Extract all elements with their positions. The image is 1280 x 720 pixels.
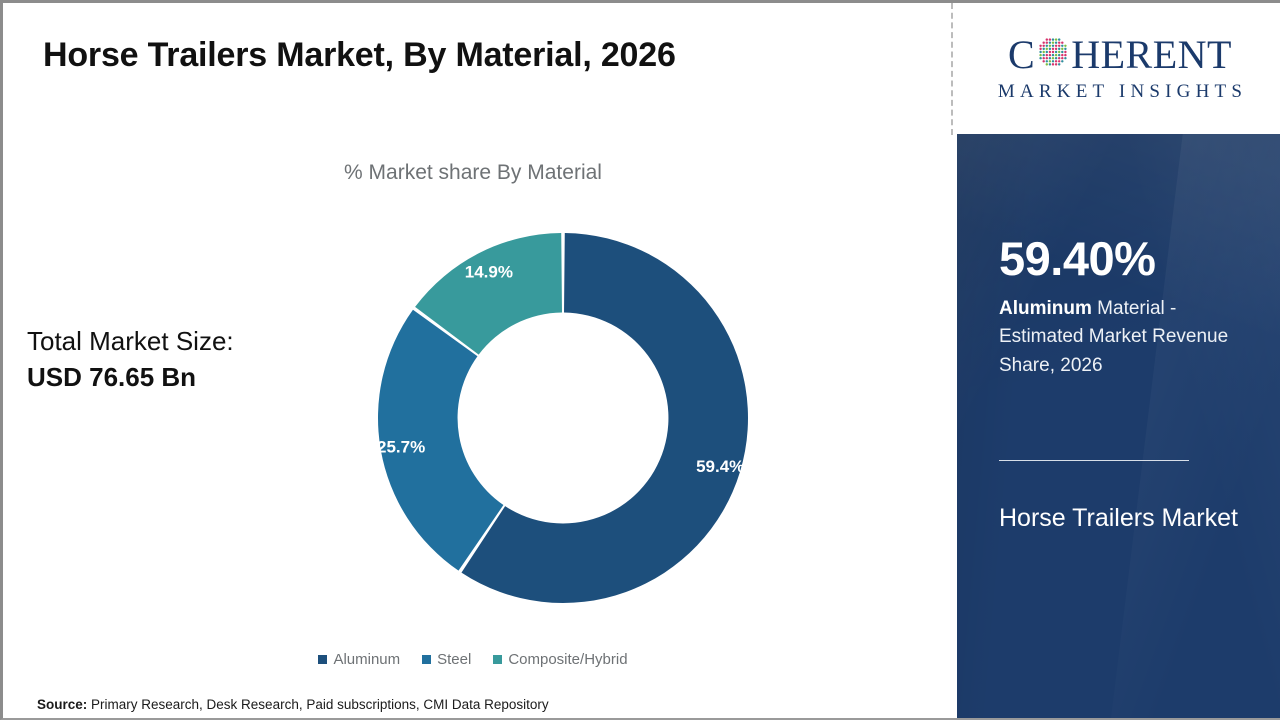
- sidebar-market-name: Horse Trailers Market: [999, 498, 1249, 538]
- donut-slice-label: 14.9%: [465, 262, 513, 281]
- brand-logo: C HERENT MARKET INSIGHTS: [957, 3, 1280, 134]
- logo-wordmark: C HERENT: [1008, 35, 1232, 76]
- chart-title: % Market share By Material: [3, 161, 943, 185]
- logo-letter-c: C: [1008, 35, 1035, 75]
- globe-dots-icon: [1036, 35, 1070, 76]
- panel-background-texture: [957, 134, 1280, 720]
- chart-legend: AluminumSteelComposite/Hybrid: [3, 651, 943, 668]
- legend-swatch-icon: [422, 655, 431, 664]
- key-stat-caption: Aluminum Material - Estimated Market Rev…: [999, 295, 1249, 381]
- legend-item[interactable]: Composite/Hybrid: [493, 651, 627, 668]
- sidebar-panel: C HERENT MARKET INSIGHTS 59.40% Aluminum…: [957, 3, 1280, 720]
- donut-slice-group: [378, 233, 748, 603]
- donut-slice-label: 25.7%: [377, 437, 425, 456]
- legend-label: Composite/Hybrid: [508, 651, 627, 668]
- key-stat-block: 59.40% Aluminum Material - Estimated Mar…: [999, 235, 1249, 380]
- source-text: Primary Research, Desk Research, Paid su…: [87, 697, 548, 712]
- donut-chart-svg: 59.4%25.7%14.9%: [373, 228, 753, 608]
- total-market-size-block: Total Market Size: USD 76.65 Bn: [27, 325, 234, 394]
- total-market-size-value: USD 76.65 Bn: [27, 361, 234, 394]
- legend-item[interactable]: Aluminum: [318, 651, 400, 668]
- logo-letters-herent: HERENT: [1071, 35, 1232, 75]
- panel-divider: [951, 3, 953, 135]
- legend-swatch-icon: [493, 655, 502, 664]
- total-market-size-label: Total Market Size:: [27, 325, 234, 358]
- page-title: Horse Trailers Market, By Material, 2026: [43, 36, 676, 75]
- key-stat-value: 59.40%: [999, 235, 1249, 284]
- source-note: Source: Primary Research, Desk Research,…: [37, 697, 549, 712]
- key-stat-caption-strong: Aluminum: [999, 298, 1092, 319]
- sidebar-divider-rule: [999, 460, 1189, 461]
- donut-chart: 59.4%25.7%14.9%: [373, 228, 753, 608]
- legend-label: Steel: [437, 651, 471, 668]
- chart-panel: Horse Trailers Market, By Material, 2026…: [3, 3, 951, 720]
- legend-swatch-icon: [318, 655, 327, 664]
- legend-label: Aluminum: [333, 651, 400, 668]
- donut-slice-label: 59.4%: [696, 457, 744, 476]
- source-label: Source:: [37, 697, 87, 712]
- logo-tagline: MARKET INSIGHTS: [993, 81, 1247, 103]
- infographic-canvas: Horse Trailers Market, By Material, 2026…: [0, 0, 1280, 720]
- legend-item[interactable]: Steel: [422, 651, 471, 668]
- sidebar-highlight: 59.40% Aluminum Material - Estimated Mar…: [957, 134, 1280, 720]
